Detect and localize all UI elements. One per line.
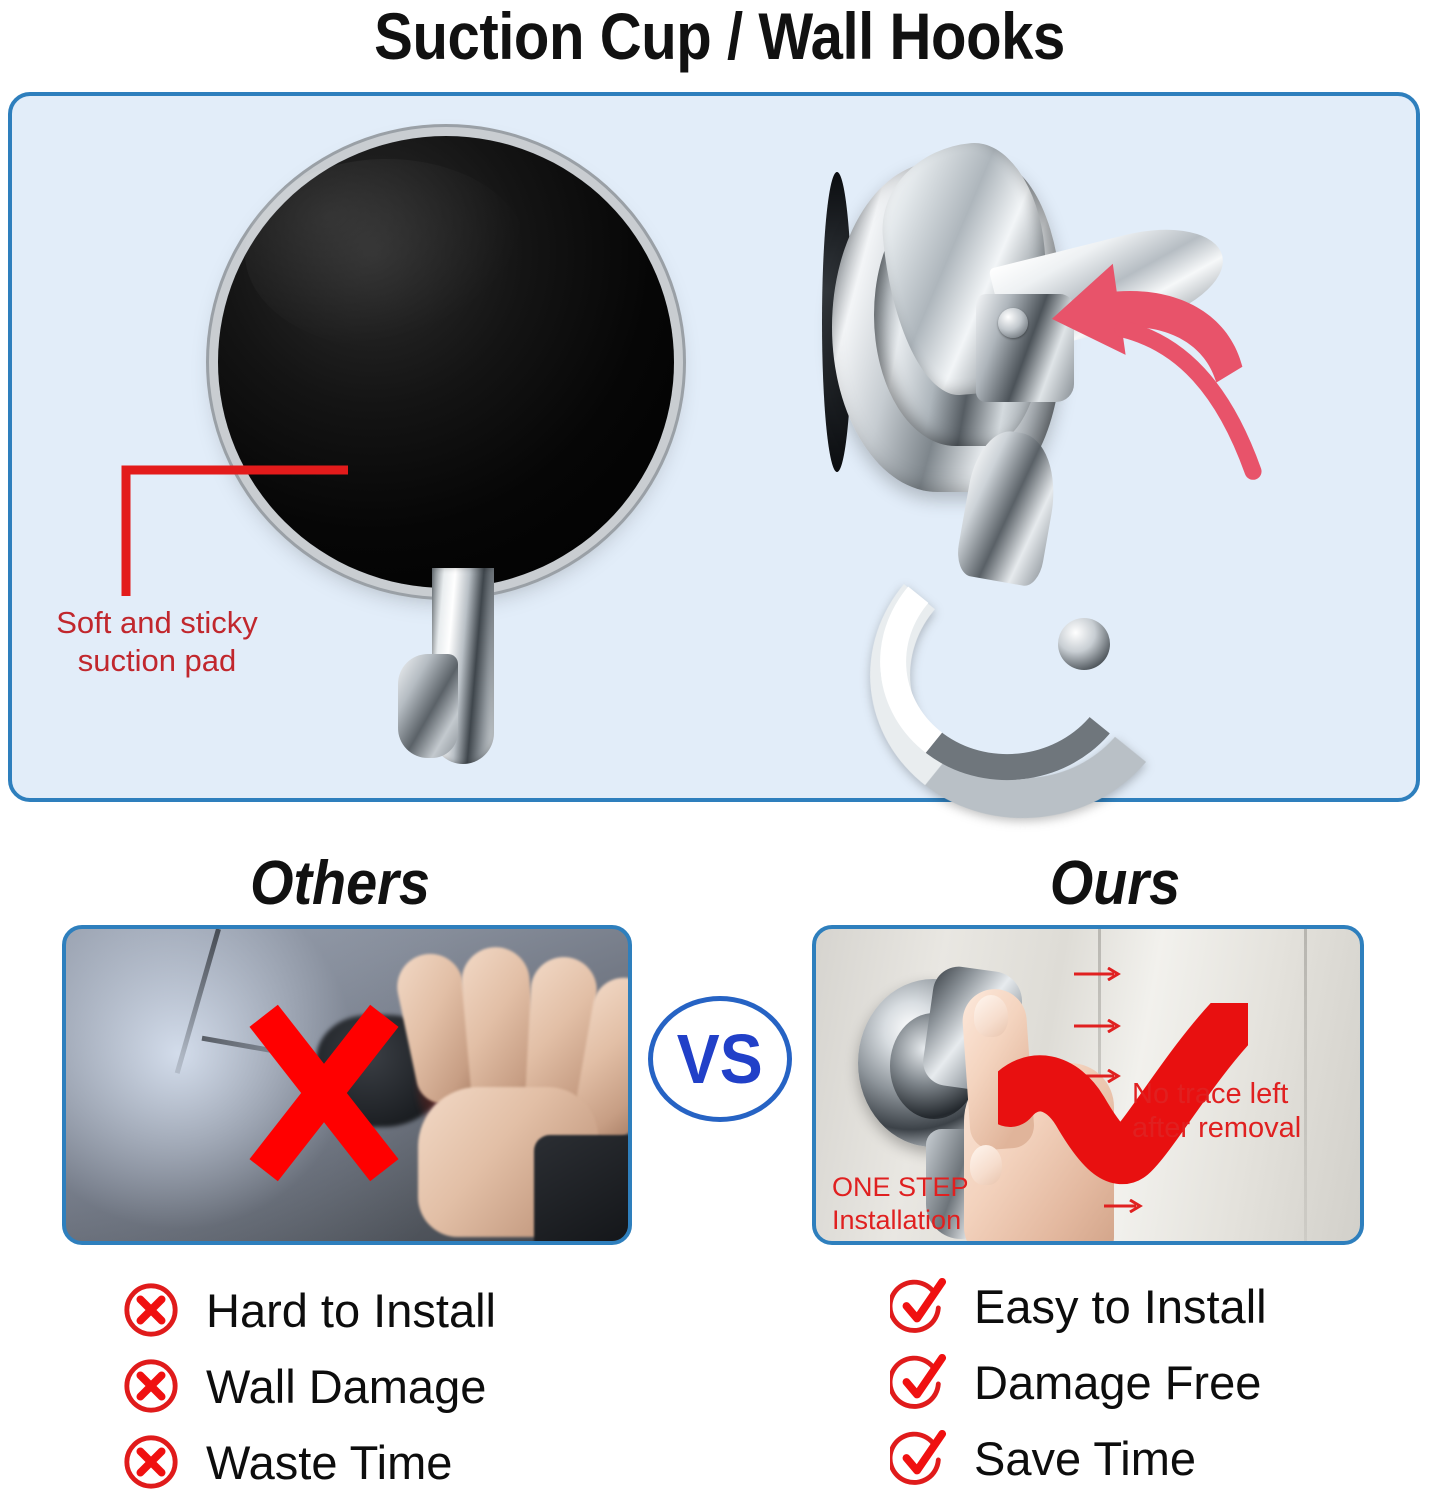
list-item-label: Save Time <box>974 1431 1196 1486</box>
list-item-label: Wall Damage <box>206 1359 486 1414</box>
label-no-trace-left: No trace left after removal <box>1132 1077 1364 1145</box>
suction-pad-disc <box>218 136 674 588</box>
red-arrow-icon-5 <box>1096 1199 1148 1213</box>
photo-ours-installation: ONE STEP Installation No trace left afte… <box>812 925 1364 1245</box>
list-item-label: Hard to Install <box>206 1283 496 1338</box>
circle-x-icon <box>122 1357 180 1415</box>
ours-feature-list: Easy to Install Damage Free Save Time <box>890 1268 1267 1496</box>
list-item-label: Waste Time <box>206 1435 452 1490</box>
callout-soft-sticky-pad: Soft and sticky suction pad <box>22 604 292 680</box>
wall-corner-edge <box>175 928 221 1074</box>
photo-others-installation <box>62 925 632 1245</box>
circle-x-icon <box>122 1281 180 1339</box>
list-item-label: Damage Free <box>974 1355 1261 1410</box>
hook-tip-ball <box>1058 618 1110 670</box>
page-title: Suction Cup / Wall Hooks <box>86 0 1352 74</box>
one-step-line-2: Installation <box>832 1204 1042 1237</box>
others-feature-list: Hard to Install Wall Damage Waste Time <box>122 1272 496 1500</box>
circle-check-icon <box>890 1429 948 1487</box>
red-arrow-icon-1 <box>1074 967 1126 981</box>
heading-ours: Ours <box>967 848 1264 919</box>
circle-x-icon <box>122 1433 180 1491</box>
large-chrome-hook <box>862 432 1152 762</box>
list-item-label: Easy to Install <box>974 1279 1267 1334</box>
lever-pivot-block <box>976 294 1074 402</box>
list-item: Hard to Install <box>122 1272 496 1348</box>
callout-line-1: Soft and sticky <box>22 604 292 642</box>
label-one-step-installation: ONE STEP Installation <box>832 1171 1042 1237</box>
chrome-suction-hook-side-view <box>802 132 1322 772</box>
sleeve-cuff <box>534 1135 632 1245</box>
vs-label: VS <box>677 1024 763 1094</box>
circle-check-icon <box>890 1277 948 1335</box>
hero-product-panel: Soft and sticky suction pad <box>8 92 1420 802</box>
no-trace-line-2: after removal <box>1132 1111 1364 1145</box>
list-item: Waste Time <box>122 1424 496 1500</box>
lever-rivet <box>998 308 1028 338</box>
list-item: Damage Free <box>890 1344 1267 1420</box>
list-item: Save Time <box>890 1420 1267 1496</box>
one-step-line-1: ONE STEP <box>832 1171 1042 1204</box>
circle-check-icon <box>890 1353 948 1411</box>
hook-knob <box>398 654 458 758</box>
small-chrome-hook <box>394 568 520 768</box>
list-item: Easy to Install <box>890 1268 1267 1344</box>
lever-assembly <box>886 144 1226 444</box>
red-x-overlay-icon <box>216 995 432 1191</box>
vs-badge: VS <box>648 996 792 1122</box>
heading-others: Others <box>192 848 489 919</box>
callout-line-2: suction pad <box>22 642 292 680</box>
no-trace-line-1: No trace left <box>1132 1077 1364 1111</box>
list-item: Wall Damage <box>122 1348 496 1424</box>
